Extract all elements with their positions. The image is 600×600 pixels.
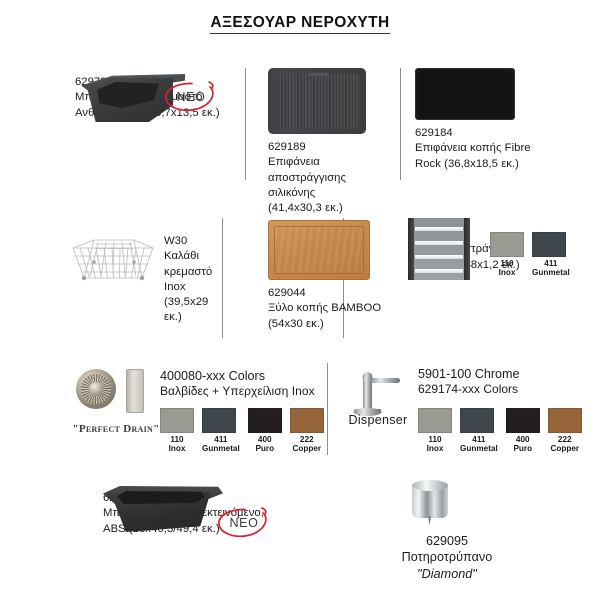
neo-badge-expandable-bowl: NEO bbox=[216, 506, 272, 540]
swatch-label: 411Gunmetal bbox=[532, 259, 570, 278]
row3-separator-1 bbox=[327, 363, 328, 455]
swatch-chip bbox=[532, 232, 566, 257]
page-title: ΑΞΕΣΟΥΑΡ ΝΕΡΟΧΥΤΗ bbox=[0, 14, 600, 32]
swatch-chip bbox=[506, 408, 540, 433]
perfect-drain-text: 400080-xxx Colors Βαλβίδες + Υπερχείλιση… bbox=[160, 369, 315, 400]
valve-hub bbox=[89, 382, 103, 396]
product-expandable-bowl[interactable]: NEO 629739 Μπωλ κρεμαστό επεκτεινόμενο, … bbox=[103, 482, 333, 537]
hole-saw-image bbox=[408, 478, 452, 526]
dispenser-label: Dispenser bbox=[340, 413, 416, 427]
swatch-label: 222Copper bbox=[290, 435, 324, 454]
swatch-400-puro[interactable]: 400Puro bbox=[506, 408, 540, 454]
hanging-basket-image bbox=[70, 232, 156, 284]
dispenser-text: 5901-100 Chrome 629174-xxx Colors bbox=[418, 367, 520, 398]
drainage-grid-bar bbox=[415, 227, 463, 231]
expandable-bowl-inner bbox=[117, 491, 205, 504]
perfect-drain-label: "Perfect Drain" bbox=[66, 423, 166, 435]
swatch-411-gunmetal[interactable]: 411Gunmetal bbox=[202, 408, 240, 454]
dispenser-image bbox=[348, 365, 406, 419]
product-drainage-grid[interactable]: 110Inox 411Gunmetal 629725-xxx Σχάρα απο… bbox=[408, 218, 598, 273]
perfect-drain-description: Βαλβίδες + Υπερχείλιση Inox bbox=[160, 384, 315, 399]
drainage-grid-rail-right bbox=[464, 218, 470, 280]
page-title-text: ΑΞΕΣΟΥΑΡ ΝΕΡΟΧΥΤΗ bbox=[210, 14, 389, 34]
swatch-label: 110Inox bbox=[160, 435, 194, 454]
hole-saw-top bbox=[412, 480, 448, 491]
swatch-label: 400Puro bbox=[248, 435, 282, 454]
hanging-basket-code: W30 bbox=[164, 234, 220, 249]
neo-badge-label: NEO bbox=[216, 506, 272, 540]
swatch-label: 411Gunmetal bbox=[202, 435, 240, 454]
silicone-mat-code: 629189 bbox=[268, 140, 388, 155]
drainage-grid-bar bbox=[415, 255, 463, 259]
drainage-grid-bar bbox=[415, 269, 463, 273]
neo-badge-corner-bowl: NEO bbox=[163, 80, 219, 114]
hole-saw-subtitle: "Diamond" bbox=[358, 566, 536, 583]
catalog-page: ΑΞΕΣΟΥΑΡ ΝΕΡΟΧΥΤΗ NEO 629733 Μπωλ γωνιακ… bbox=[0, 0, 600, 600]
bamboo-board-image bbox=[268, 220, 370, 280]
wire-basket-icon bbox=[70, 232, 156, 284]
drainage-grid-bar bbox=[415, 241, 463, 245]
bamboo-board-description: Ξύλο κοπής BAMBOO (54x30 εκ.) bbox=[268, 301, 398, 331]
drainage-grid-swatches: 110Inox 411Gunmetal bbox=[490, 232, 570, 278]
swatch-chip bbox=[160, 408, 194, 433]
swatch-label: 400Puro bbox=[506, 435, 540, 454]
swatch-chip bbox=[418, 408, 452, 433]
swatch-chip bbox=[490, 232, 524, 257]
product-corner-bowl[interactable]: NEO 629733 Μπωλ γωνιακό κρεμαστό Ανθρακί… bbox=[75, 68, 240, 121]
swatch-label: 222Copper bbox=[548, 435, 582, 454]
dispenser-colors-code: 629174-xxx Colors bbox=[418, 382, 520, 397]
drainage-grid-rail-left bbox=[408, 218, 414, 280]
swatch-chip bbox=[548, 408, 582, 433]
swatch-110-inox[interactable]: 110Inox bbox=[160, 408, 194, 454]
swatch-400-puro[interactable]: 400Puro bbox=[248, 408, 282, 454]
silicone-mat-image bbox=[268, 68, 366, 134]
row2-separator-1 bbox=[222, 218, 223, 338]
silicone-mat-logo bbox=[308, 73, 328, 76]
dispenser-chrome-code: 5901-100 Chrome bbox=[418, 367, 520, 382]
product-bamboo-board[interactable]: 629044 Ξύλο κοπής BAMBOO (54x30 εκ.) bbox=[268, 220, 398, 332]
swatch-222-copper[interactable]: 222Copper bbox=[548, 408, 582, 454]
swatch-411-gunmetal[interactable]: 411Gunmetal bbox=[532, 232, 570, 278]
swatch-110-inox[interactable]: 110Inox bbox=[418, 408, 452, 454]
drainage-grid-image bbox=[408, 218, 470, 280]
hole-saw-tip bbox=[428, 516, 431, 525]
perfect-drain-code: 400080-xxx Colors bbox=[160, 369, 315, 384]
swatch-110-inox[interactable]: 110Inox bbox=[490, 232, 524, 278]
dispenser-swatches: 110Inox 411Gunmetal 400Puro 222Copper bbox=[418, 408, 582, 454]
overflow-cap-image bbox=[126, 369, 144, 413]
neo-badge-label: NEO bbox=[163, 80, 219, 114]
swatch-411-gunmetal[interactable]: 411Gunmetal bbox=[460, 408, 498, 454]
silicone-mat-ribs bbox=[278, 74, 360, 129]
silicone-mat-description: Επιφάνεια αποστράγγισης σιλικόνης (41,4x… bbox=[268, 155, 388, 216]
bamboo-board-inlay bbox=[274, 226, 364, 274]
swatch-chip bbox=[290, 408, 324, 433]
hole-saw-code: 629095 bbox=[358, 534, 536, 549]
bamboo-board-code: 629044 bbox=[268, 286, 398, 301]
hole-saw-description: Ποτηροτρύπανο bbox=[358, 549, 536, 566]
product-fibre-rock[interactable]: 629184 Επιφάνεια κοπής Fibre Rock (36,8x… bbox=[415, 68, 580, 172]
swatch-label: 110Inox bbox=[418, 435, 452, 454]
swatch-label: 110Inox bbox=[490, 259, 524, 278]
fibre-rock-code: 629184 bbox=[415, 126, 580, 141]
expandable-bowl-image bbox=[103, 482, 223, 534]
swatch-label: 411Gunmetal bbox=[460, 435, 498, 454]
swatch-chip bbox=[202, 408, 236, 433]
hanging-basket-text: W30 Καλάθι κρεμαστό Inox (39,5x29 εκ.) bbox=[164, 234, 220, 325]
swatch-chip bbox=[248, 408, 282, 433]
product-hole-saw[interactable]: 629095 Ποτηροτρύπανο "Diamond" bbox=[358, 478, 536, 583]
fibre-rock-description: Επιφάνεια κοπής Fibre Rock (36,8x18,5 εκ… bbox=[415, 141, 580, 171]
swatch-222-copper[interactable]: 222Copper bbox=[290, 408, 324, 454]
row1-separator-2 bbox=[400, 68, 401, 180]
product-silicone-mat[interactable]: 629189 Επιφάνεια αποστράγγισης σιλικόνης… bbox=[268, 68, 388, 216]
swatch-chip bbox=[460, 408, 494, 433]
hanging-basket-description: Καλάθι κρεμαστό Inox (39,5x29 εκ.) bbox=[164, 249, 220, 325]
perfect-drain-swatches: 110Inox 411Gunmetal 400Puro 222Copper bbox=[160, 408, 324, 454]
perfect-drain-valve-image bbox=[76, 369, 116, 409]
soap-dispenser-icon bbox=[348, 365, 406, 419]
row1-separator-1 bbox=[245, 68, 246, 180]
fibre-rock-image bbox=[415, 68, 515, 120]
